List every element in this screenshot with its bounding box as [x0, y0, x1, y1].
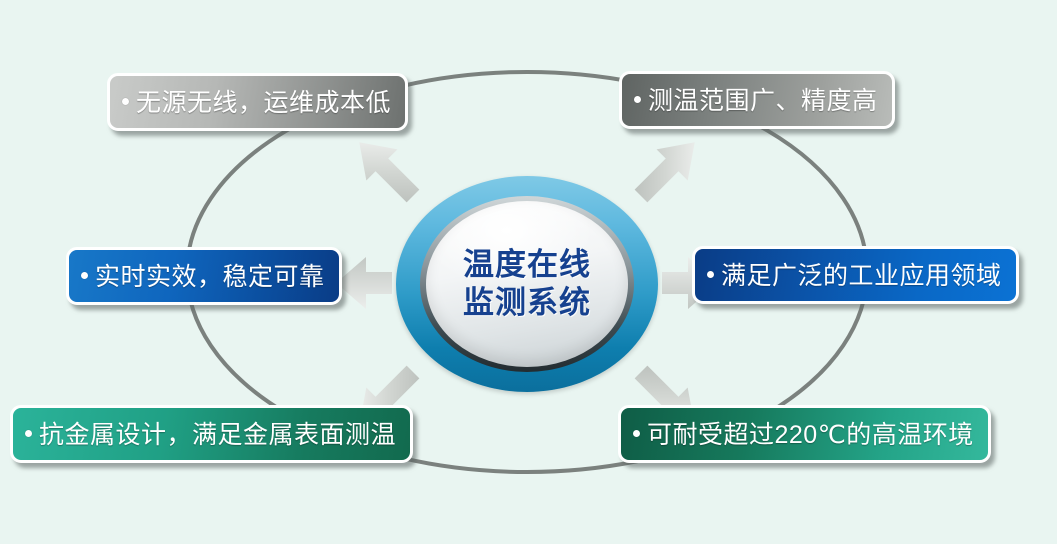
- bullet-icon: [25, 430, 32, 437]
- bullet-icon: [81, 272, 88, 279]
- center-hub: 温度在线 监测系统: [396, 176, 658, 392]
- feature-label: 满足广泛的工业应用领域: [721, 256, 1002, 292]
- feature-pill-bottom-left[interactable]: 抗金属设计，满足金属表面测温: [10, 405, 413, 463]
- arrow-left: [336, 257, 392, 309]
- feature-label: 实时实效，稳定可靠: [95, 257, 325, 293]
- bullet-icon: [633, 430, 640, 437]
- feature-label: 测温范围广、精度高: [648, 81, 878, 117]
- center-hub-bezel: 温度在线 监测系统: [420, 196, 634, 372]
- feature-pill-top-right[interactable]: 测温范围广、精度高: [619, 71, 895, 129]
- arrow-top-left: [344, 127, 429, 212]
- bullet-icon: [707, 271, 714, 278]
- bullet-icon: [634, 96, 641, 103]
- feature-label: 无源无线，运维成本低: [136, 83, 391, 119]
- arrow-top-right: [625, 127, 710, 212]
- bullet-icon: [122, 98, 129, 105]
- feature-pill-right[interactable]: 满足广泛的工业应用领域: [692, 246, 1019, 304]
- feature-pill-top-left[interactable]: 无源无线，运维成本低: [107, 73, 408, 131]
- center-hub-face: 温度在线 监测系统: [426, 201, 628, 367]
- center-title: 温度在线 监测系统: [463, 246, 591, 322]
- feature-pill-left[interactable]: 实时实效，稳定可靠: [66, 247, 342, 305]
- feature-pill-bottom-right[interactable]: 可耐受超过220℃的高温环境: [618, 405, 991, 463]
- diagram-canvas: 温度在线 监测系统 无源无线，运维成本低 测温范围广、精度高 实时实效，稳定可靠…: [0, 0, 1057, 544]
- feature-label: 抗金属设计，满足金属表面测温: [39, 415, 396, 451]
- feature-label: 可耐受超过220℃的高温环境: [647, 415, 974, 451]
